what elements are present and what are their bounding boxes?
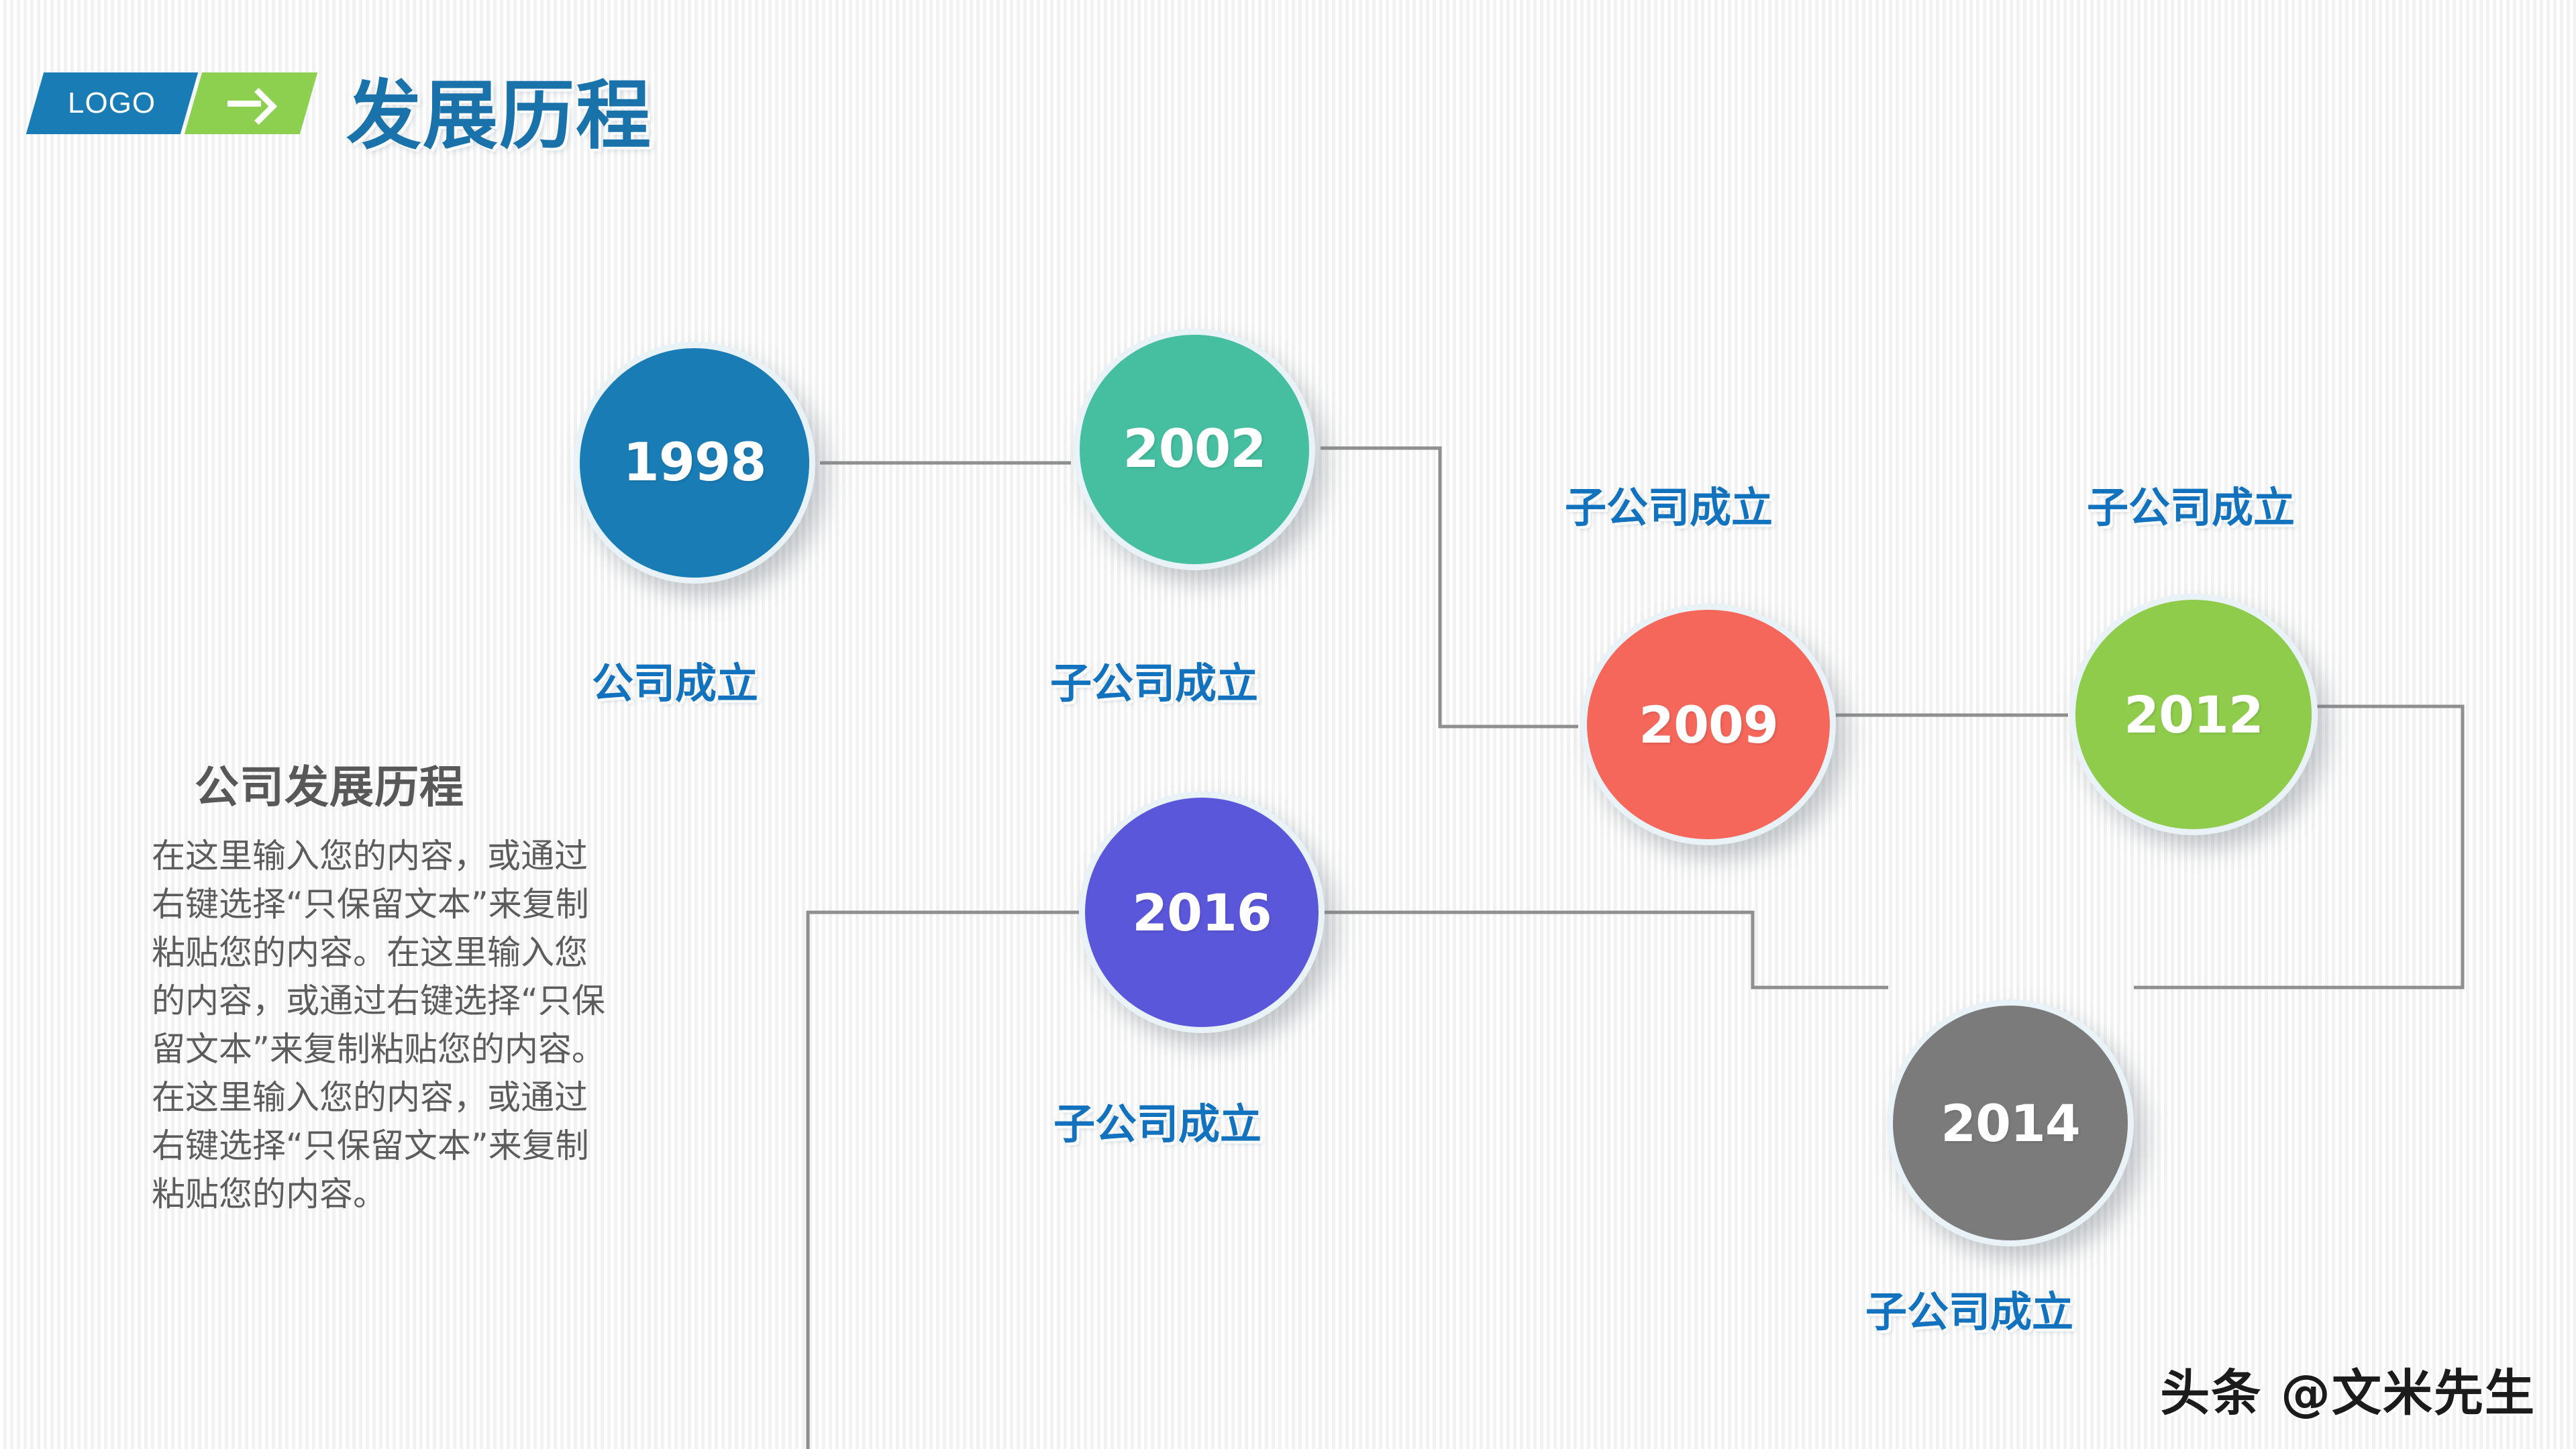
timeline-year-1998: 1998 xyxy=(623,433,766,493)
timeline-label-2009: 子公司成立 xyxy=(1565,474,1773,534)
timeline-year-2012: 2012 xyxy=(2124,685,2263,745)
side-panel-body: 在这里输入您的内容，或通过右键选择“只保留文本”来复制粘贴您的内容。在这里输入您… xyxy=(152,832,608,1218)
timeline-year-2002: 2002 xyxy=(1123,419,1266,480)
timeline-label-1998: 公司成立 xyxy=(592,649,758,710)
timeline-year-2016: 2016 xyxy=(1132,883,1272,943)
timeline-bubble-2009[interactable]: 2009 xyxy=(1581,604,1836,845)
timeline-year-2014: 2014 xyxy=(1941,1093,2080,1153)
timeline-bubble-1998[interactable]: 1998 xyxy=(574,342,815,584)
timeline-label-2012: 子公司成立 xyxy=(2087,474,2295,534)
timeline-label-2002: 子公司成立 xyxy=(1050,649,1258,710)
slide-canvas: LOGO 发展历程 公司发展历程 在这里输入您的内容，或通过右键选择“只保留 xyxy=(0,0,2576,1449)
timeline-bubble-2002[interactable]: 2002 xyxy=(1074,329,1315,570)
timeline-label-2016: 子公司成立 xyxy=(1053,1090,1261,1150)
connector-2002-2009 xyxy=(1321,448,1578,727)
connector-2016-tail xyxy=(808,912,1079,1449)
watermark: 头条 @文米先生 xyxy=(2160,1353,2536,1425)
timeline-label-2014: 子公司成立 xyxy=(1865,1278,2073,1338)
timeline-year-2009: 2009 xyxy=(1639,695,1778,755)
side-panel: 公司发展历程 在这里输入您的内容，或通过右键选择“只保留文本”来复制粘贴您的内容… xyxy=(152,751,621,1218)
timeline-bubble-2012[interactable]: 2012 xyxy=(2069,594,2318,835)
timeline-bubble-2016[interactable]: 2016 xyxy=(1079,792,1325,1033)
connector-2014-2016 xyxy=(1323,912,1888,987)
timeline-bubble-2014[interactable]: 2014 xyxy=(1887,1000,2134,1246)
side-panel-heading: 公司发展历程 xyxy=(195,751,621,816)
